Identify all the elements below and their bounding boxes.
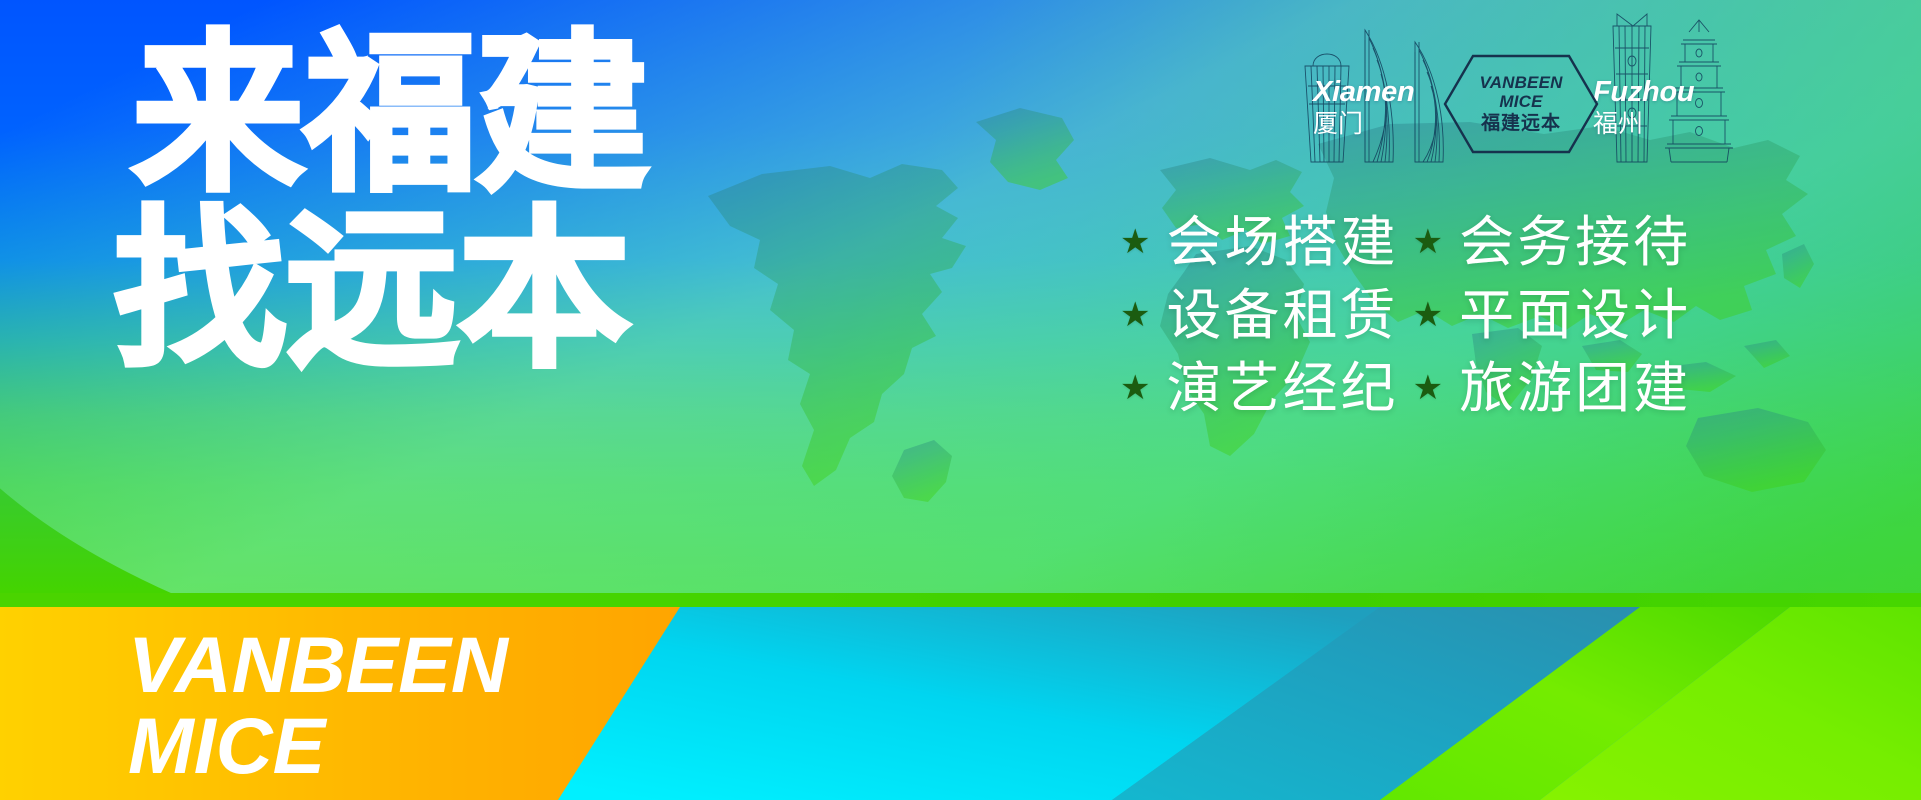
xiamen-sail-tower-2-icon [1415, 42, 1443, 162]
hex-badge-line-2: MICE [1479, 93, 1562, 111]
service-item-4: ★ 演艺经纪 [1120, 356, 1399, 421]
headline-line-1: 来福建 [132, 36, 649, 196]
city-xiamen-en: Xiamen [1313, 78, 1414, 107]
service-item-2: ★ 设备租赁 [1120, 283, 1399, 348]
city-xiamen-cn: 厦门 [1313, 110, 1414, 138]
footer-brand-line-1: VANBEEN [128, 629, 508, 702]
star-icon: ★ [1413, 371, 1443, 405]
star-icon: ★ [1120, 298, 1150, 332]
hex-badge-line-3: 福建远本 [1479, 114, 1562, 134]
headline: 来福建 找远本 [132, 36, 649, 372]
service-label-2: 设备租赁 [1166, 283, 1398, 348]
vanbeen-hex-badge: VANBEEN MICE 福建远本 [1443, 54, 1599, 154]
star-icon: ★ [1413, 225, 1443, 259]
city-fuzhou-en: Fuzhou [1593, 78, 1694, 107]
footer-bar: VANBEEN MICE [0, 607, 1921, 800]
footer-brand: VANBEEN MICE [128, 629, 508, 782]
service-label-0: 会场搭建 [1166, 210, 1398, 275]
promo-banner: 来福建 找远本 [0, 0, 1921, 800]
service-item-1: ★ 会务接待 [1413, 210, 1692, 275]
city-fuzhou: Fuzhou 福州 [1593, 78, 1694, 138]
green-separator-strip [0, 593, 1921, 607]
footer-brand-line-2: MICE [128, 710, 508, 783]
city-landmark-cluster: Xiamen 厦门 Fuzhou 福州 VANBEEN MICE 福建远本 [1295, 4, 1795, 169]
star-icon: ★ [1413, 298, 1443, 332]
hex-badge-line-1: VANBEEN [1479, 74, 1562, 92]
service-label-3: 平面设计 [1459, 283, 1691, 348]
city-fuzhou-cn: 福州 [1593, 110, 1694, 138]
star-icon: ★ [1120, 225, 1150, 259]
service-item-5: ★ 旅游团建 [1413, 356, 1692, 421]
service-label-4: 演艺经纪 [1166, 356, 1398, 421]
service-list: ★ 会场搭建 ★ 会务接待 ★ 设备租赁 ★ 平面设计 ★ 演艺经纪 ★ 旅游团… [1120, 210, 1691, 421]
city-xiamen: Xiamen 厦门 [1313, 78, 1414, 138]
service-item-0: ★ 会场搭建 [1120, 210, 1399, 275]
service-item-3: ★ 平面设计 [1413, 283, 1692, 348]
star-icon: ★ [1120, 371, 1150, 405]
headline-line-2: 找远本 [114, 212, 649, 372]
service-label-1: 会务接待 [1459, 210, 1691, 275]
service-label-5: 旅游团建 [1459, 356, 1691, 421]
